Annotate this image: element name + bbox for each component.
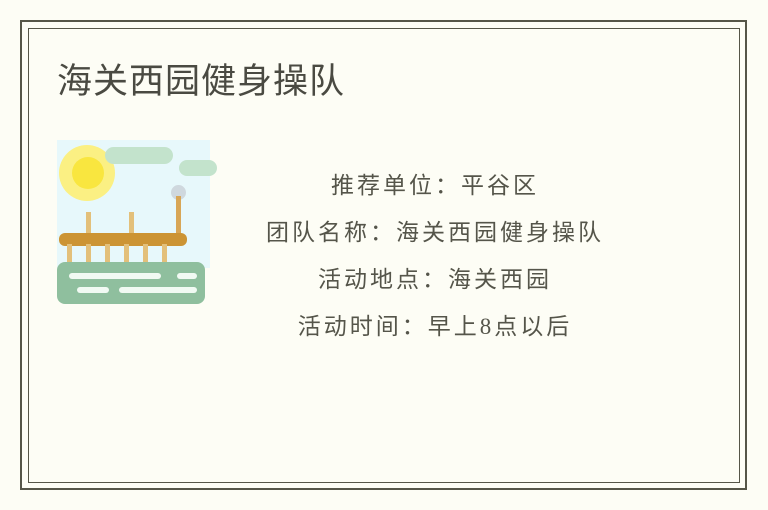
water-surface [57, 262, 205, 304]
wave-line [119, 287, 197, 293]
sun-icon [72, 157, 104, 189]
cloud-icon-right [179, 160, 217, 176]
info-line-activity-time: 活动时间：早上8点以后 [225, 303, 645, 350]
cloud-icon-left [105, 147, 173, 164]
info-line-team-name: 团队名称：海关西园健身操队 [225, 209, 645, 256]
info-line-recommending-unit: 推荐单位：平谷区 [225, 162, 645, 209]
wave-line [177, 273, 197, 279]
lamp-pole [176, 196, 181, 238]
poster-card: 海关西园健身操队 推荐单位：平谷区 团队名称：海关西园健身操队 活动地点：海关西… [0, 0, 768, 510]
page-title: 海关西园健身操队 [57, 60, 345, 104]
pier-deck [59, 233, 187, 246]
wave-line [77, 287, 109, 293]
info-line-activity-location: 活动地点：海关西园 [225, 256, 645, 303]
pier-sunrise-illustration [55, 140, 210, 300]
info-block: 推荐单位：平谷区 团队名称：海关西园健身操队 活动地点：海关西园 活动时间：早上… [225, 162, 645, 350]
wave-line [69, 273, 161, 279]
